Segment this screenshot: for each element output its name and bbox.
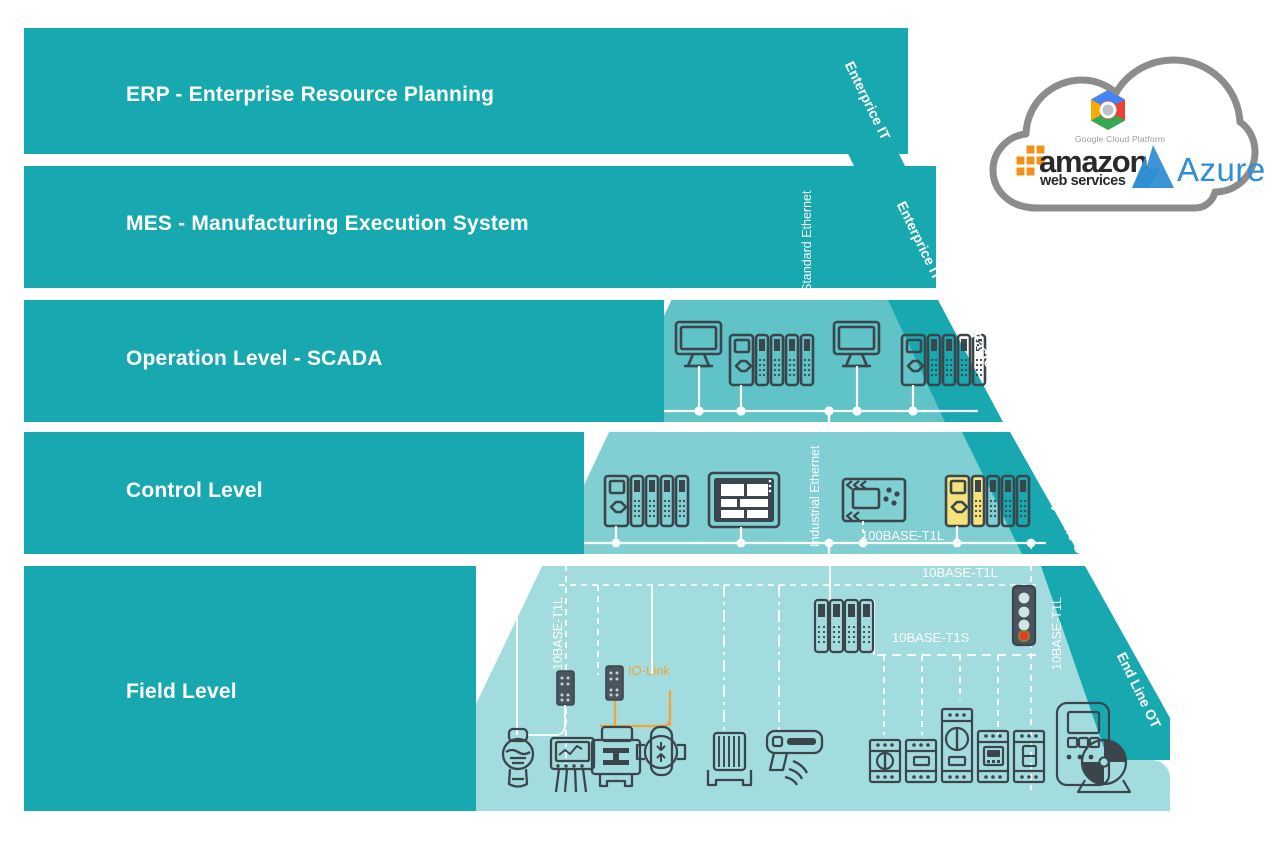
google-cloud-platform-icon bbox=[1085, 88, 1131, 132]
level-label-field: Field Level bbox=[126, 680, 237, 704]
net-label-10base-t1l-left: 10BASE-T1L bbox=[551, 597, 565, 670]
azure-label: Azure bbox=[1177, 151, 1266, 189]
net-label-100base-t1l: 100BASE-T1L bbox=[861, 528, 944, 543]
aws-label-secondary: web services bbox=[1040, 173, 1126, 189]
net-label-standard-ethernet: Standard Ethernet bbox=[800, 191, 814, 292]
azure-icon bbox=[1130, 143, 1176, 191]
diagram-canvas: ERP - Enterprise Resource Planning MES -… bbox=[0, 0, 1280, 861]
net-label-10base-t1l-top: 10BASE-T1L bbox=[922, 565, 998, 580]
io-block-left bbox=[557, 671, 574, 705]
level-label-control: Control Level bbox=[126, 479, 263, 503]
cloud-services-group: Google Cloud Platform amazon web service… bbox=[985, 48, 1263, 238]
level-label-scada: Operation Level - SCADA bbox=[126, 347, 383, 371]
level-label-mes: MES - Manufacturing Execution System bbox=[126, 212, 529, 236]
net-label-10base-t1l-right: 10BASE-T1L bbox=[1050, 597, 1064, 670]
io-block-right bbox=[606, 666, 623, 700]
level-band-field[interactable] bbox=[24, 566, 476, 811]
stack-light bbox=[1013, 586, 1035, 645]
level-label-erp: ERP - Enterprise Resource Planning bbox=[126, 83, 494, 107]
net-label-io-link: IO-Link bbox=[628, 663, 670, 678]
net-label-10base-t1s: 10BASE-T1S bbox=[892, 630, 969, 645]
level-band-control[interactable] bbox=[24, 432, 584, 554]
net-label-industrial-ethernet: Industrial Ethernet bbox=[808, 446, 822, 547]
